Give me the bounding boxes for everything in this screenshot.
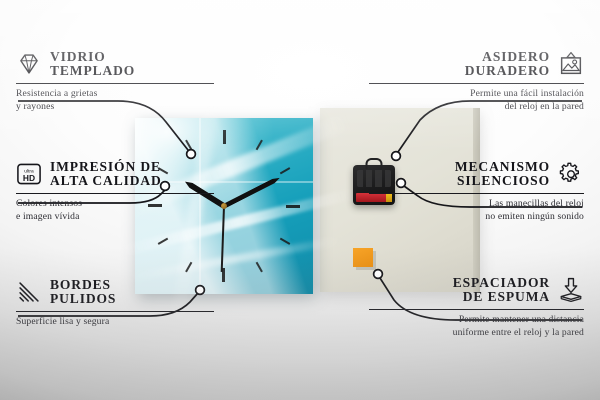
feature-description-line: Superficie lisa y segura xyxy=(16,316,231,329)
feature-description-line: Permite una fácil instalación xyxy=(369,88,584,101)
feature-description-line: uniforme entre el reloj y la pared xyxy=(369,327,584,340)
feature-description-line: Permite mantener una distancia xyxy=(369,314,584,327)
divider xyxy=(16,83,214,85)
feature-title-line: PULIDOS xyxy=(50,292,116,306)
svg-text:HD: HD xyxy=(23,173,35,183)
feature-title-line: TEMPLADO xyxy=(50,64,135,78)
divider xyxy=(369,309,584,311)
feature-description: Permite mantener una distancia uniforme … xyxy=(369,314,584,339)
picture-hanger-icon xyxy=(558,51,584,77)
feature-description-line: del reloj en la pared xyxy=(369,101,584,114)
feature-title-line: DURADERO xyxy=(465,64,550,78)
foam-spacer xyxy=(353,248,373,267)
feature-title-line: VIDRIO xyxy=(50,50,135,64)
feature-title-line: DE ESPUMA xyxy=(453,290,550,304)
feature-mecanismo-silencioso: MECANISMO SILENCIOSO Las manecillas del … xyxy=(369,160,584,224)
ultra-hd-icon: ultra HD xyxy=(16,161,42,187)
feature-title-line: MECANISMO xyxy=(455,160,550,174)
feature-description: Permite una fácil instalación del reloj … xyxy=(369,88,584,113)
foam-spacer-icon xyxy=(558,277,584,303)
feature-description: Resistencia a grietas y rayones xyxy=(16,88,231,113)
feature-description: Colores intensos e imagen vívida xyxy=(16,198,231,223)
divider xyxy=(369,193,584,195)
feature-description-line: e imagen vívida xyxy=(16,211,231,224)
polished-edge-icon xyxy=(16,279,42,305)
feature-description-line: Colores intensos xyxy=(16,198,231,211)
divider xyxy=(16,193,214,195)
feature-description-line: Resistencia a grietas xyxy=(16,88,231,101)
diamond-icon xyxy=(16,51,42,77)
feature-title-line: ASIDERO xyxy=(465,50,550,64)
divider xyxy=(16,311,214,313)
infographic-canvas: VIDRIO TEMPLADO Resistencia a grietas y … xyxy=(0,0,600,400)
feature-description-line: Las manecillas del reloj xyxy=(369,198,584,211)
gear-icon xyxy=(558,161,584,187)
feature-description-line: y rayones xyxy=(16,101,231,114)
feature-asidero-duradero: ASIDERO DURADERO Permite una fácil insta… xyxy=(369,50,584,114)
feature-title-line: ESPACIADOR xyxy=(453,276,550,290)
feature-title-line: IMPRESIÓN DE xyxy=(50,160,162,174)
feature-description: Superficie lisa y segura xyxy=(16,316,231,329)
feature-impresion-alta-calidad: ultra HD IMPRESIÓN DE ALTA CALIDAD Color… xyxy=(16,160,231,224)
feature-bordes-pulidos: BORDES PULIDOS Superficie lisa y segura xyxy=(16,278,231,329)
feature-title-line: SILENCIOSO xyxy=(455,174,550,188)
feature-title-line: ALTA CALIDAD xyxy=(50,174,162,188)
clock-tick xyxy=(224,205,300,207)
feature-title-line: BORDES xyxy=(50,278,116,292)
feature-espaciador-de-espuma: ESPACIADOR DE ESPUMA Permite mantener un… xyxy=(369,276,584,340)
feature-vidrio-templado: VIDRIO TEMPLADO Resistencia a grietas y … xyxy=(16,50,231,114)
feature-description: Las manecillas del reloj no emiten ningú… xyxy=(369,198,584,223)
feature-description-line: no emiten ningún sonido xyxy=(369,211,584,224)
divider xyxy=(369,83,584,85)
